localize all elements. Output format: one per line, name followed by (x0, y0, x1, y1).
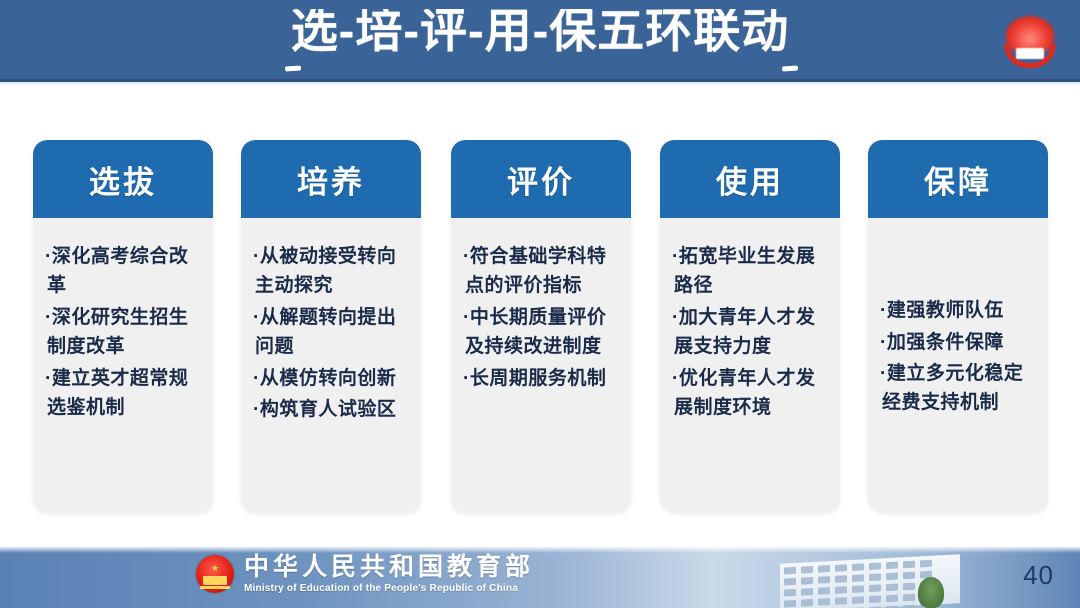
five-link-card-row: 选拔 ·深化高考综合改革 ·深化研究生招生制度改革 ·建立英才超常规选鉴机制 培… (0, 140, 1080, 515)
card-header-peiyang: 培养 (241, 140, 421, 218)
card-header-shiyong: 使用 (660, 140, 840, 218)
card-body-peiyang: ·从被动接受转向主动探究 ·从解题转向提出问题 ·从模仿转向创新 ·构筑育人试验… (241, 218, 421, 441)
slide-header: 选-培-评-用-保五环联动 (0, 0, 1080, 82)
card-title-baozhang: 保障 (924, 157, 992, 202)
ministry-name-cn: 中华人民共和国教育部 (244, 554, 534, 582)
card-peiyang[interactable]: 培养 ·从被动接受转向主动探究 ·从解题转向提出问题 ·从模仿转向创新 ·构筑育… (241, 140, 421, 512)
page-number: 40 (1023, 560, 1054, 591)
card-title-pingjia: 评价 (507, 157, 575, 202)
bullet-item: ·构筑育人试验区 (255, 395, 409, 424)
bullet-item: ·从模仿转向创新 (255, 364, 409, 393)
card-xuanba[interactable]: 选拔 ·深化高考综合改革 ·深化研究生招生制度改革 ·建立英才超常规选鉴机制 (33, 140, 213, 512)
ministry-building-photo (770, 551, 980, 608)
bullet-item: ·从被动接受转向主动探究 (255, 242, 409, 301)
card-pingjia[interactable]: 评价 ·符合基础学科特点的评价指标 ·中长期质量评价及持续改进制度 ·长周期服务… (451, 140, 631, 512)
card-header-xuanba: 选拔 (33, 140, 213, 218)
emblem-star-shape: ★ (211, 564, 219, 573)
bullet-item: ·建立多元化稳定经费支持机制 (882, 359, 1036, 418)
page-title: 选-培-评-用-保五环联动 (0, 0, 1080, 72)
emblem-gate-base-shape (200, 586, 230, 589)
bullet-item: ·拓宽毕业生发展路径 (674, 242, 828, 301)
card-title-shiyong: 使用 (716, 157, 784, 202)
bullet-item: ·加强条件保障 (882, 328, 1036, 357)
bullet-item: ·长周期服务机制 (465, 364, 619, 393)
slide-root: 选-培-评-用-保五环联动 选拔 ·深化高考综合改革 ·深化研究生招生制度改革 … (0, 0, 1080, 608)
moe-red-dome-logo-icon (998, 14, 1062, 70)
card-shiyong[interactable]: 使用 ·拓宽毕业生发展路径 ·加大青年人才发展支持力度 ·优化青年人才发展制度环… (660, 140, 840, 512)
bullet-item: ·符合基础学科特点的评价指标 (465, 242, 619, 301)
ministry-branding: ★ 中华人民共和国教育部 Ministry of Education of th… (196, 554, 534, 594)
card-body-pingjia: ·符合基础学科特点的评价指标 ·中长期质量评价及持续改进制度 ·长周期服务机制 (451, 218, 631, 409)
card-body-baozhang: ·建强教师队伍 ·加强条件保障 ·建立多元化稳定经费支持机制 (868, 218, 1048, 512)
bullet-item: ·建强教师队伍 (882, 296, 1036, 325)
card-body-xuanba: ·深化高考综合改革 ·深化研究生招生制度改革 ·建立英才超常规选鉴机制 (33, 218, 213, 439)
bullet-item: ·优化青年人才发展制度环境 (674, 364, 828, 423)
card-title-peiyang: 培养 (297, 157, 365, 202)
national-emblem-icon: ★ (196, 555, 234, 593)
bullet-item: ·深化研究生招生制度改革 (47, 303, 201, 362)
card-header-baozhang: 保障 (868, 140, 1048, 218)
card-body-shiyong: ·拓宽毕业生发展路径 ·加大青年人才发展支持力度 ·优化青年人才发展制度环境 (660, 218, 840, 439)
bullet-item: ·中长期质量评价及持续改进制度 (465, 303, 619, 362)
card-baozhang[interactable]: 保障 ·建强教师队伍 ·加强条件保障 ·建立多元化稳定经费支持机制 (868, 140, 1048, 512)
header-bottom-divider (0, 82, 1080, 86)
logo-smile-inner-shape (1016, 48, 1044, 59)
bullet-item: ·建立英才超常规选鉴机制 (47, 364, 201, 423)
ministry-name-block: 中华人民共和国教育部 Ministry of Education of the … (244, 554, 534, 594)
bullet-item: ·深化高考综合改革 (47, 242, 201, 301)
ministry-name-en: Ministry of Education of the People's Re… (244, 583, 534, 594)
building-tree (918, 577, 944, 608)
card-title-xuanba: 选拔 (89, 157, 157, 202)
bullet-item: ·加大青年人才发展支持力度 (674, 303, 828, 362)
slide-footer: ★ 中华人民共和国教育部 Ministry of Education of th… (0, 546, 1080, 608)
emblem-gate-shape (203, 576, 227, 585)
bullet-item: ·从解题转向提出问题 (255, 303, 409, 362)
card-header-pingjia: 评价 (451, 140, 631, 218)
